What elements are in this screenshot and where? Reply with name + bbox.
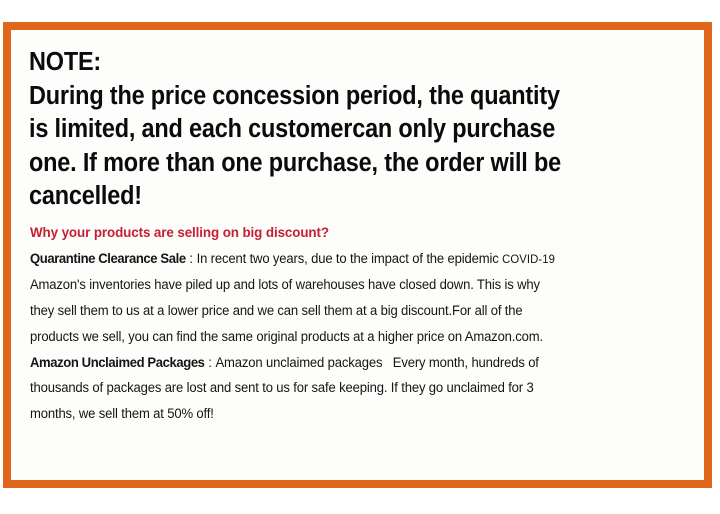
discount-question-subheading: Why your products are selling on big dis… xyxy=(30,223,690,243)
headline-line-2: During the price concession period, the … xyxy=(29,80,637,114)
quarantine-clearance-text-1: In recent two years, due to the impact o… xyxy=(197,251,502,266)
headline-line-3: is limited, and each customercan only pu… xyxy=(29,113,637,147)
unclaimed-packages-line-1: Amazon Unclaimed Packages : Amazon uncla… xyxy=(30,350,674,376)
explanation-paragraphs: Quarantine Clearance Sale : In recent tw… xyxy=(30,246,690,428)
unclaimed-packages-label: Amazon Unclaimed Packages xyxy=(30,355,205,370)
quarantine-clearance-line-3: they sell them to us at a lower price an… xyxy=(30,298,674,324)
unclaimed-packages-line-2: thousands of packages are lost and sent … xyxy=(30,375,674,401)
unclaimed-packages-separator: : xyxy=(205,355,216,370)
headline-line-4: one. If more than one purchase, the orde… xyxy=(29,147,637,181)
note-card: NOTE: During the price concession period… xyxy=(3,22,712,488)
headline-line-5: cancelled! xyxy=(29,180,637,214)
quarantine-clearance-line-1: Quarantine Clearance Sale : In recent tw… xyxy=(30,246,674,273)
unclaimed-packages-line-3: months, we sell them at 50% off! xyxy=(30,401,674,427)
unclaimed-packages-text-1: Amazon unclaimed packages Every month, h… xyxy=(215,355,538,370)
quarantine-clearance-line-2: Amazon's inventories have piled up and l… xyxy=(30,272,674,298)
quarantine-clearance-line-4: products we sell, you can find the same … xyxy=(30,324,674,350)
headline-line-1: NOTE: xyxy=(29,46,637,80)
quarantine-clearance-separator: : xyxy=(186,251,197,266)
quarantine-clearance-label: Quarantine Clearance Sale xyxy=(30,251,186,266)
note-card-body: NOTE: During the price concession period… xyxy=(11,30,704,480)
covid-19-label: COVID-19 xyxy=(502,253,555,266)
note-headline: NOTE: During the price concession period… xyxy=(29,46,637,214)
